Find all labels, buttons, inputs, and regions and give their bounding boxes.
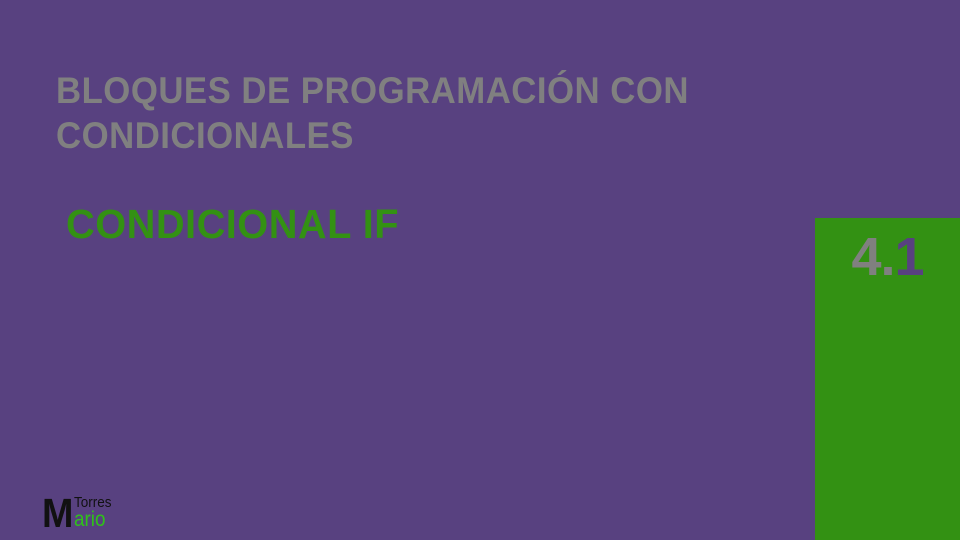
page-title: BLOQUES DE PROGRAMACIÓN CON CONDICIONALE… <box>56 68 752 158</box>
logo-firstname-text: ario <box>74 510 112 530</box>
section-number-major: 4. <box>851 227 894 287</box>
slide-canvas: BLOQUES DE PROGRAMACIÓN CON CONDICIONALE… <box>0 0 960 540</box>
brand-logo: M Torres ario <box>42 495 116 531</box>
slide-subtitle: CONDICIONAL IF <box>66 200 399 249</box>
section-number-block: 4.1 <box>815 218 960 540</box>
logo-wordmark: Torres ario <box>74 495 116 531</box>
section-number: 4.1 <box>815 230 960 284</box>
section-number-minor: 1 <box>895 227 924 287</box>
logo-monogram: M <box>42 497 73 531</box>
